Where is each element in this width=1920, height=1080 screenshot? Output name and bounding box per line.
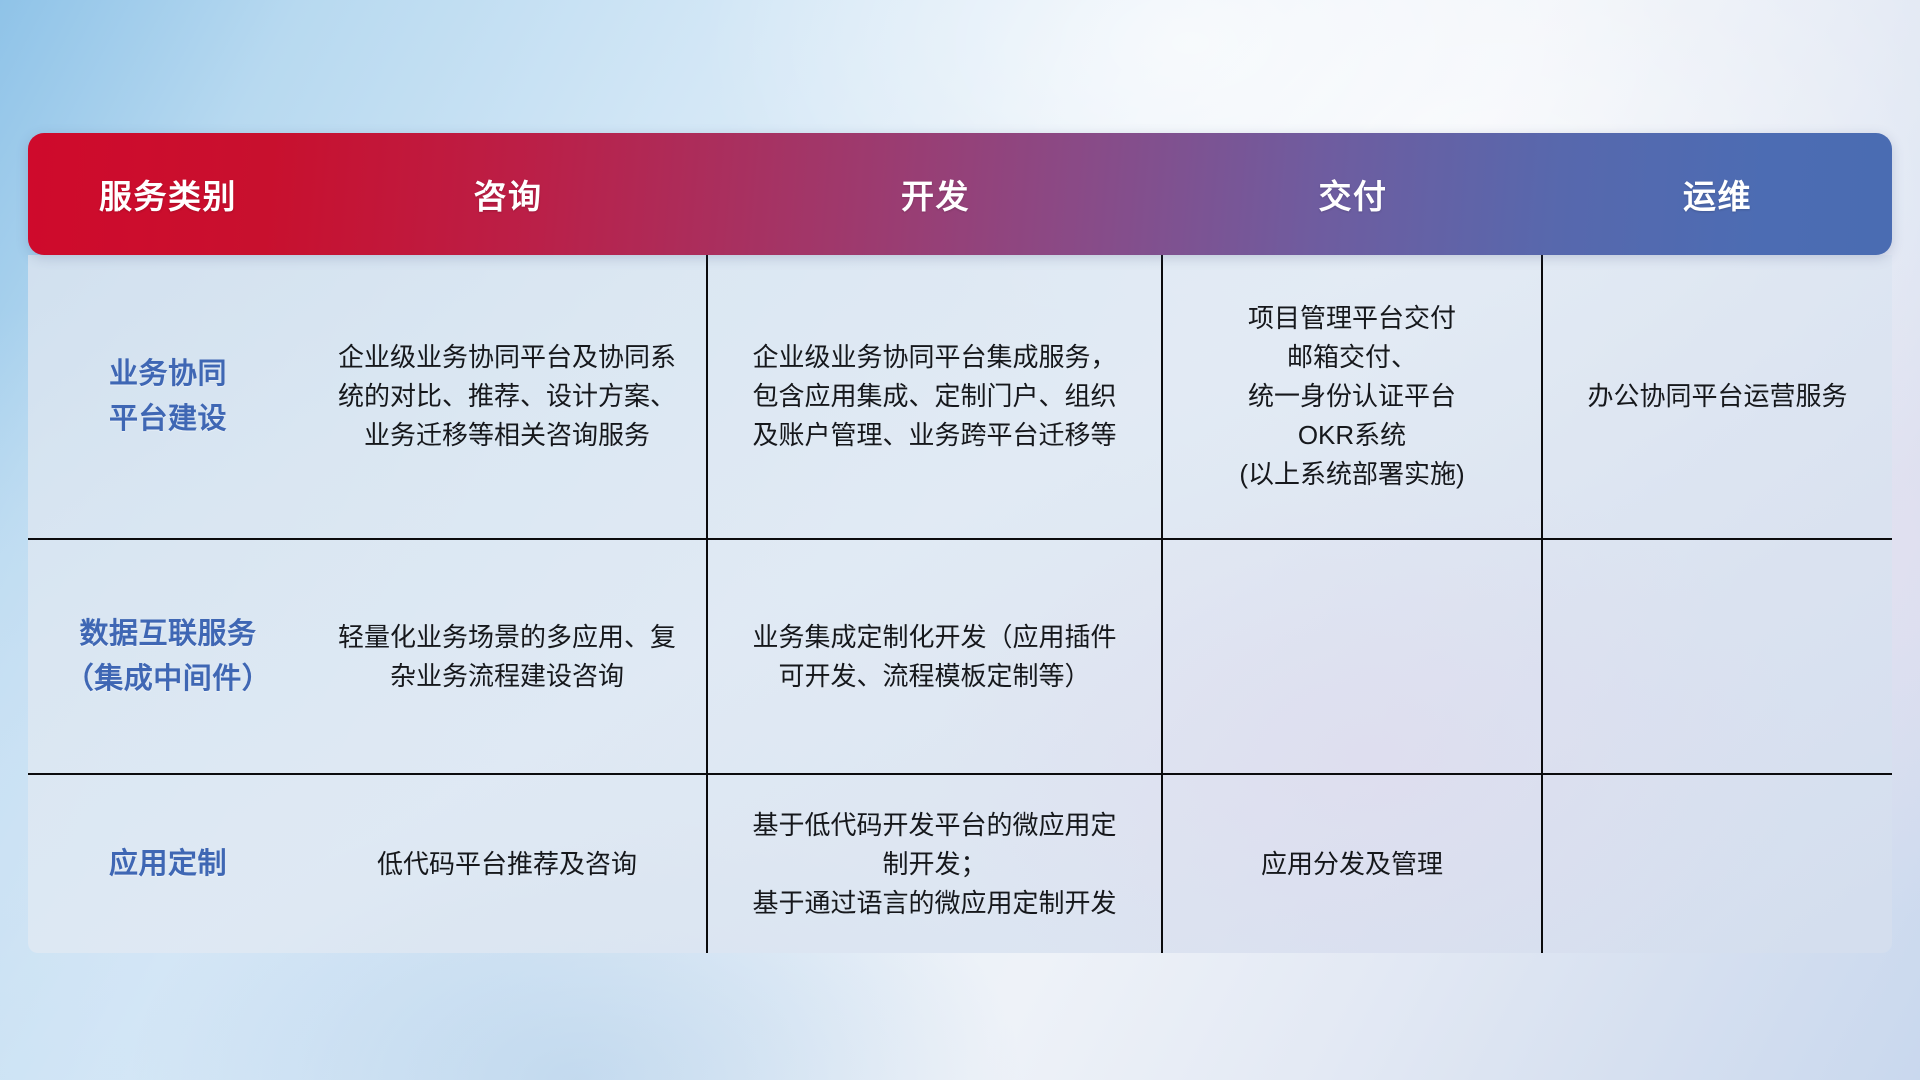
cell-text: 应用分发及管理: [1261, 845, 1443, 884]
cell-text: 项目管理平台交付 邮箱交付、 统一身份认证平台 OKR系统 (以上系统部署实施): [1239, 299, 1464, 494]
column-header-consulting: 咨询: [308, 133, 708, 255]
cell-operations: 办公协同平台运营服务: [1543, 255, 1892, 538]
row-label-cell: 业务协同 平台建设: [28, 255, 308, 538]
table-header-row: 服务类别 咨询 开发 交付 运维: [28, 133, 1892, 255]
column-header-operations: 运维: [1543, 133, 1892, 255]
row-label-cell: 应用定制: [28, 775, 308, 953]
cell-development: 企业级业务协同平台集成服务， 包含应用集成、定制门户、组织 及账户管理、业务跨平…: [708, 255, 1163, 538]
service-matrix-table: 服务类别 咨询 开发 交付 运维 业务协同 平台建设 企业级业务协同平台及协同系…: [28, 133, 1892, 953]
cell-consulting: 轻量化业务场景的多应用、复 杂业务流程建设咨询: [308, 540, 708, 773]
cell-text: 轻量化业务场景的多应用、复 杂业务流程建设咨询: [338, 618, 676, 696]
cell-text: 基于低代码开发平台的微应用定 制开发； 基于通过语言的微应用定制开发: [752, 806, 1116, 923]
cell-consulting: 企业级业务协同平台及协同系 统的对比、推荐、设计方案、 业务迁移等相关咨询服务: [308, 255, 708, 538]
cell-development: 业务集成定制化开发（应用插件 可开发、流程模板定制等）: [708, 540, 1163, 773]
cell-text: 业务集成定制化开发（应用插件 可开发、流程模板定制等）: [752, 618, 1116, 696]
cell-operations: [1543, 540, 1892, 773]
cell-delivery: 项目管理平台交付 邮箱交付、 统一身份认证平台 OKR系统 (以上系统部署实施): [1163, 255, 1543, 538]
cell-consulting: 低代码平台推荐及咨询: [308, 775, 708, 953]
cell-development: 基于低代码开发平台的微应用定 制开发； 基于通过语言的微应用定制开发: [708, 775, 1163, 953]
row-label-text: 业务协同 平台建设: [109, 352, 227, 440]
table-row: 业务协同 平台建设 企业级业务协同平台及协同系 统的对比、推荐、设计方案、 业务…: [28, 255, 1892, 540]
row-label-cell: 数据互联服务 （集成中间件）: [28, 540, 308, 773]
table-body: 业务协同 平台建设 企业级业务协同平台及协同系 统的对比、推荐、设计方案、 业务…: [28, 255, 1892, 953]
row-label-text: 应用定制: [109, 842, 227, 886]
cell-text: 办公协同平台运营服务: [1587, 377, 1847, 416]
cell-delivery: 应用分发及管理: [1163, 775, 1543, 953]
column-header-delivery: 交付: [1163, 133, 1543, 255]
cell-delivery: [1163, 540, 1543, 773]
table-row: 应用定制 低代码平台推荐及咨询 基于低代码开发平台的微应用定 制开发； 基于通过…: [28, 775, 1892, 953]
cell-operations: [1543, 775, 1892, 953]
cell-text: 低代码平台推荐及咨询: [377, 845, 637, 884]
column-header-development: 开发: [708, 133, 1163, 255]
row-label-text: 数据互联服务 （集成中间件）: [65, 612, 272, 700]
column-header-category: 服务类别: [28, 133, 308, 255]
table-row: 数据互联服务 （集成中间件） 轻量化业务场景的多应用、复 杂业务流程建设咨询 业…: [28, 540, 1892, 775]
cell-text: 企业级业务协同平台及协同系 统的对比、推荐、设计方案、 业务迁移等相关咨询服务: [338, 338, 676, 455]
cell-text: 企业级业务协同平台集成服务， 包含应用集成、定制门户、组织 及账户管理、业务跨平…: [752, 338, 1116, 455]
